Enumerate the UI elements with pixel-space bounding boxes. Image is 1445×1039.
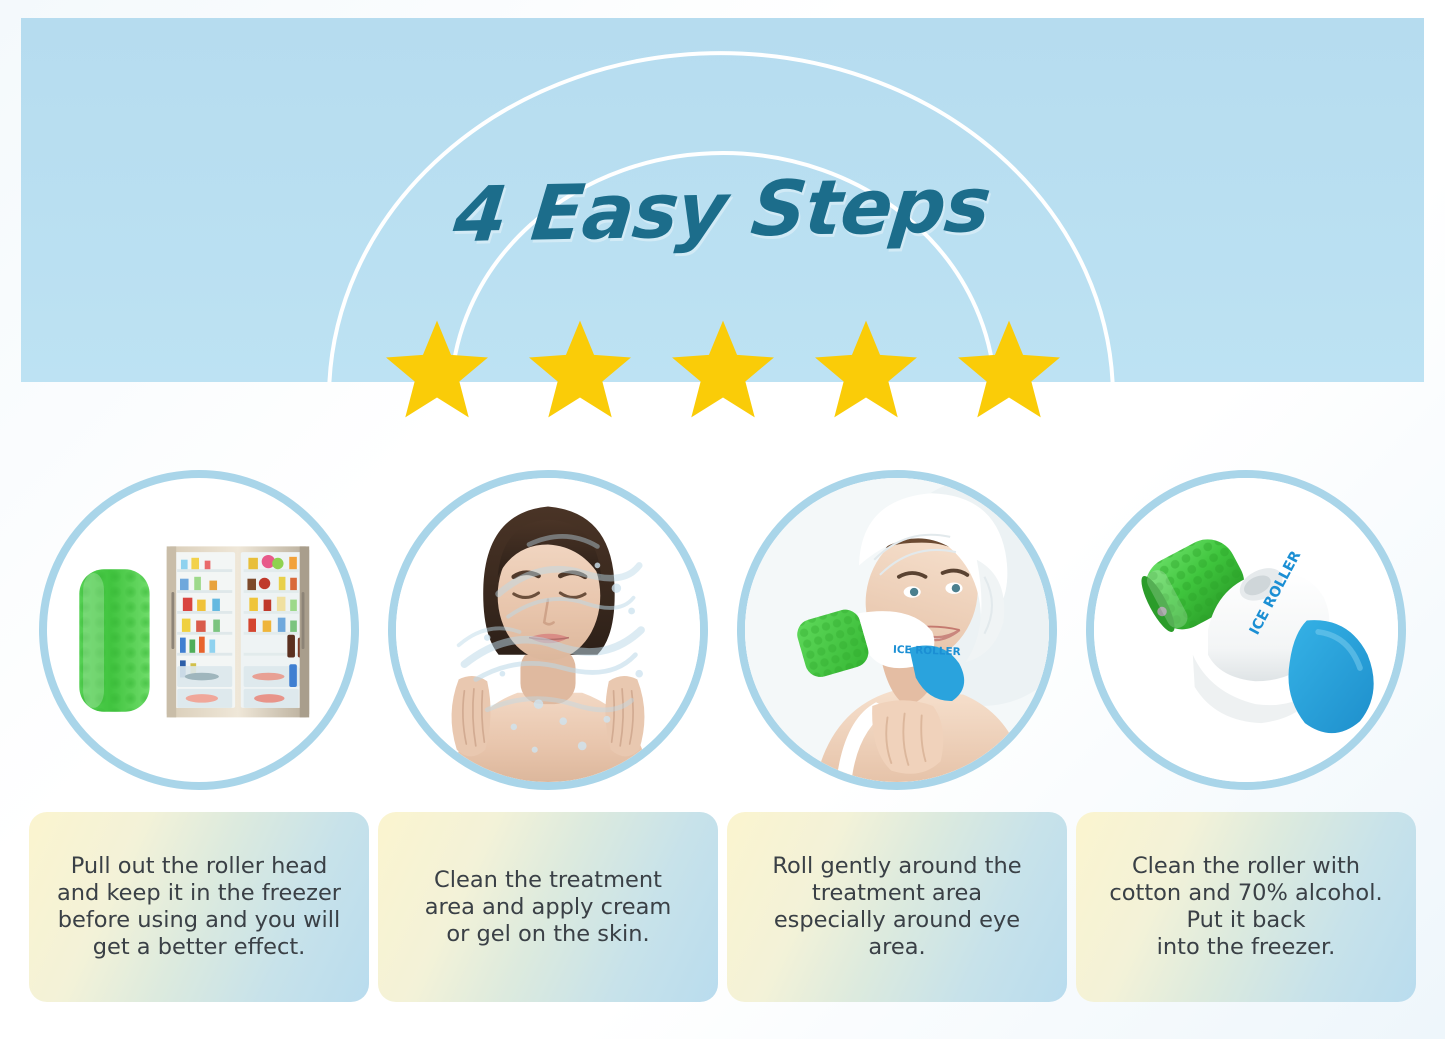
woman-washing-face-image (396, 478, 700, 782)
step-3-image-circle: ICE ROLLER (737, 470, 1057, 790)
step-2-caption-text: Clean the treatment area and apply cream… (425, 867, 672, 948)
step-4-caption-card: Clean the roller with cotton and 70% alc… (1076, 812, 1416, 1002)
step-1-image-circle (39, 470, 359, 790)
step-4: ICE ROLLER Clean the roller with cotton … (1081, 470, 1411, 1020)
woman-using-ice-roller-image: ICE ROLLER (745, 478, 1049, 782)
roller-head-and-refrigerator-image (47, 478, 351, 782)
step-1: Pull out the roller head and keep it in … (34, 470, 364, 1020)
step-1-caption-text: Pull out the roller head and keep it in … (57, 853, 341, 961)
star-icon-2 (528, 318, 632, 422)
infographic-root: 4 Easy Steps (0, 0, 1445, 1039)
steps-row: Pull out the roller head and keep it in … (21, 470, 1424, 1020)
step-3-caption-text: Roll gently around the treatment area es… (772, 853, 1021, 961)
star-icon-5 (957, 318, 1061, 422)
star-icon-3 (671, 318, 775, 422)
step-3-caption-card: Roll gently around the treatment area es… (727, 812, 1067, 1002)
ice-roller-product-image: ICE ROLLER (1094, 478, 1398, 782)
star-icon-1 (385, 318, 489, 422)
step-2-caption-card: Clean the treatment area and apply cream… (378, 812, 718, 1002)
star-rating (0, 318, 1445, 422)
svg-text:ICE ROLLER: ICE ROLLER (893, 644, 961, 658)
step-4-image-circle: ICE ROLLER (1086, 470, 1406, 790)
step-2-image-circle (388, 470, 708, 790)
step-3: ICE ROLLER Roll gently around the treatm… (732, 470, 1062, 1020)
step-4-caption-text: Clean the roller with cotton and 70% alc… (1109, 853, 1382, 961)
step-2: Clean the treatment area and apply cream… (383, 470, 713, 1020)
star-icon-4 (814, 318, 918, 422)
step-1-caption-card: Pull out the roller head and keep it in … (29, 812, 369, 1002)
